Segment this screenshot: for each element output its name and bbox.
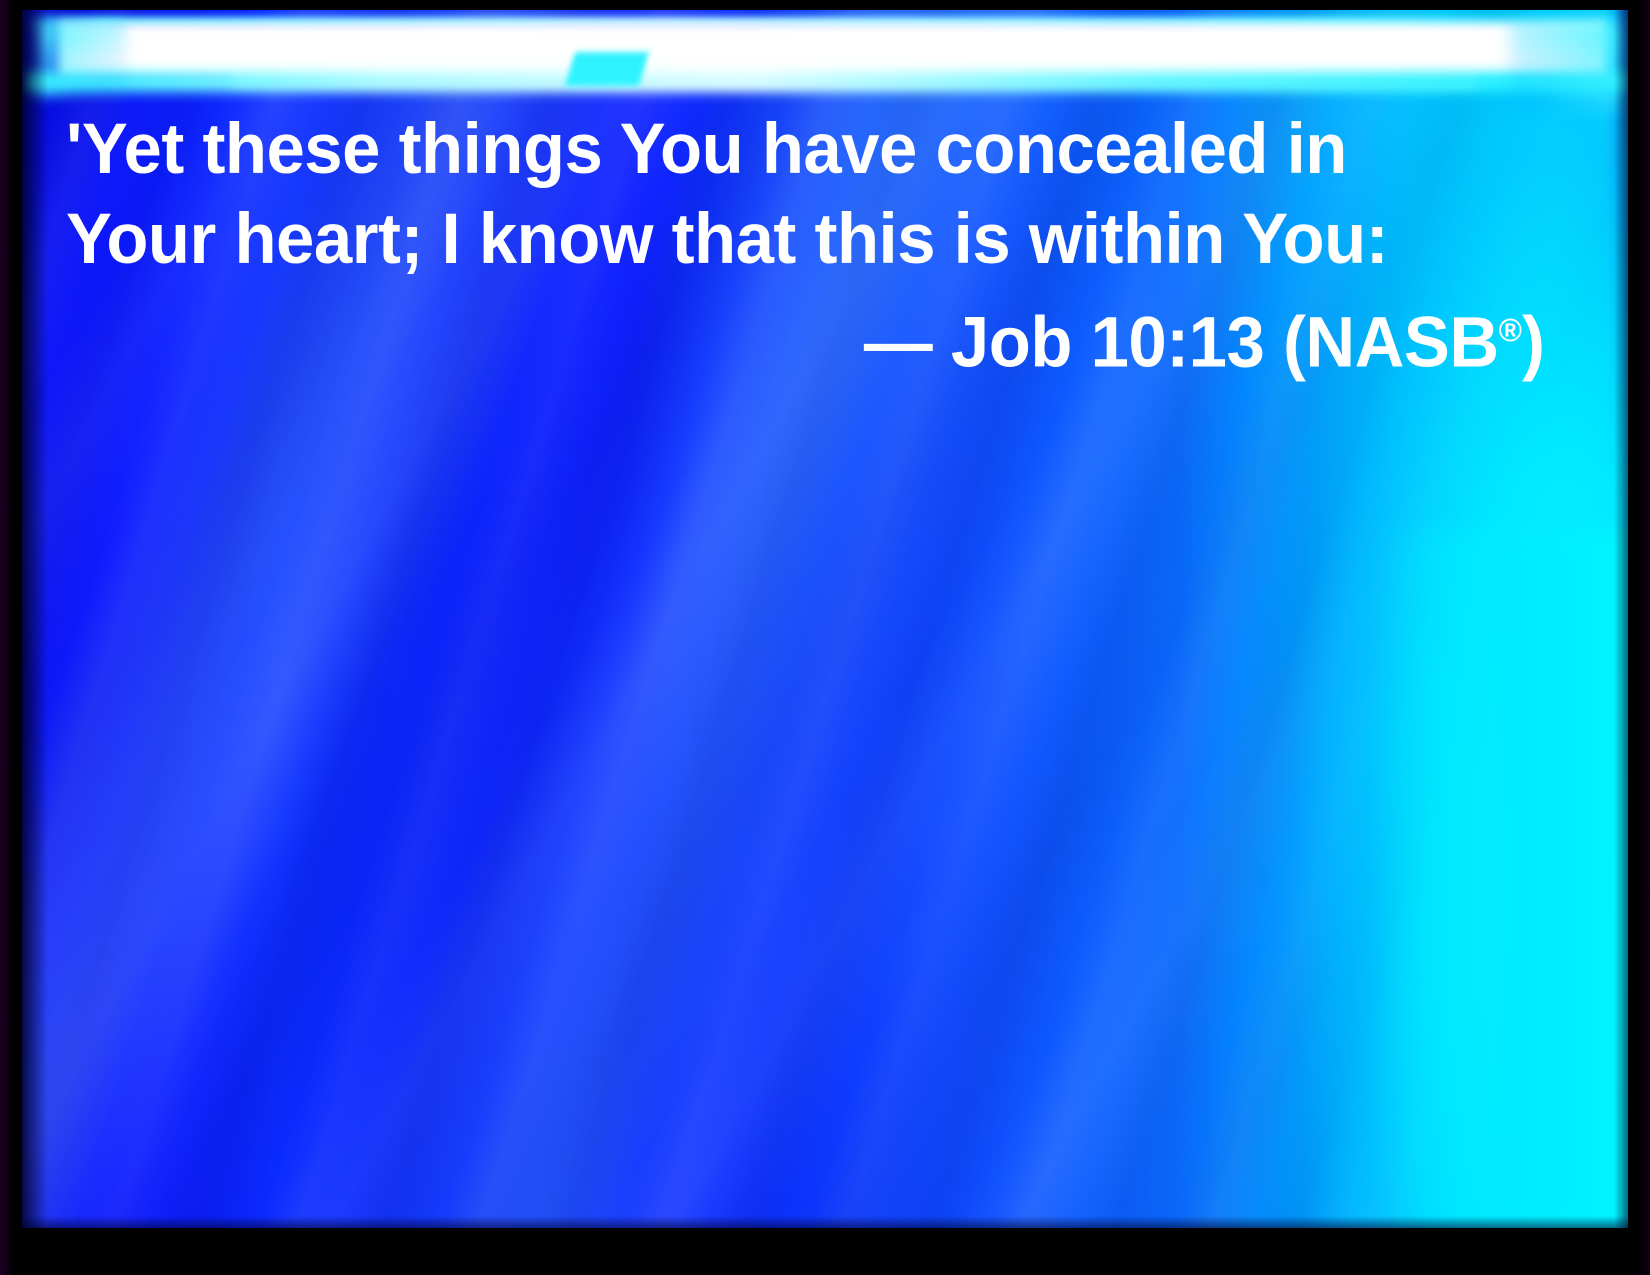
citation-chapter-verse: 10:13 [1091, 303, 1265, 382]
cyan-edge-glow [1378, 530, 1628, 1228]
verse-citation: — Job 10:13 (NASB®) [111, 285, 1558, 388]
verse-line-2: Your heart; I know that this is within Y… [66, 195, 1513, 285]
top-band-notch [565, 52, 649, 86]
citation-spacer-2 [1072, 303, 1091, 382]
top-left-corner-glow [36, 20, 126, 98]
top-right-corner-glow [1510, 20, 1620, 112]
verse-line-1: 'Yet these things You have concealed in [66, 105, 1513, 195]
citation-close-paren: ) [1522, 303, 1544, 382]
citation-spacer-3 [1264, 303, 1283, 382]
citation-translation: NASB [1305, 303, 1498, 382]
citation-book: Job [951, 303, 1072, 382]
verse-slide: 'Yet these things You have concealed in … [0, 0, 1650, 1275]
verse-text-block: 'Yet these things You have concealed in … [66, 105, 1558, 388]
registered-trademark-icon: ® [1499, 311, 1522, 348]
top-cyan-underglow [22, 72, 1628, 92]
citation-dash: — [864, 303, 932, 382]
citation-open-paren: ( [1283, 303, 1305, 382]
citation-spacer [932, 303, 951, 382]
